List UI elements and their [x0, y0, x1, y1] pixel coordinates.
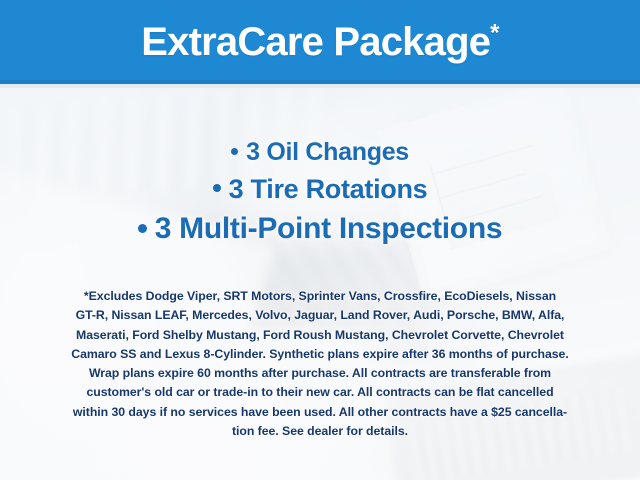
header-banner: ExtraCare Package*: [0, 0, 640, 88]
disclaimer-line: within 30 days if no services have been …: [30, 403, 610, 422]
benefit-item-tire-rotations: 3 Tire Rotations: [0, 174, 640, 206]
disclaimer-line: customer's old car or trade-in to their …: [30, 383, 610, 402]
disclaimer-line: *Excludes Dodge Viper, SRT Motors, Sprin…: [30, 287, 610, 306]
benefit-label: 3 Oil Changes: [246, 138, 409, 166]
bullet-dot-icon: [231, 148, 238, 155]
benefit-label: 3 Tire Rotations: [229, 174, 428, 204]
page-title-asterisk: *: [490, 20, 499, 47]
benefit-item-oil-changes: 3 Oil Changes: [0, 138, 640, 168]
bullet-dot-icon: [138, 224, 147, 233]
header-bottom-rule: [0, 84, 640, 88]
page-title-text: ExtraCare Package: [141, 20, 490, 64]
page-title: ExtraCare Package*: [141, 22, 498, 66]
benefit-item-multi-point-inspections: 3 Multi-Point Inspections: [0, 211, 640, 246]
disclaimer-line: Camaro SS and Lexus 8-Cylinder. Syntheti…: [30, 345, 610, 364]
extracare-package-ad: ExtraCare Package* 3 Oil Changes 3 Tire …: [0, 0, 640, 480]
disclaimer-line: tion fee. See dealer for details.: [30, 422, 610, 441]
disclaimer-line: Maserati, Ford Shelby Mustang, Ford Rous…: [30, 326, 610, 345]
disclaimer-line: Wrap plans expire 60 months after purcha…: [30, 364, 610, 383]
benefit-label: 3 Multi-Point Inspections: [155, 212, 503, 245]
disclaimer-text: *Excludes Dodge Viper, SRT Motors, Sprin…: [30, 287, 610, 441]
bullet-dot-icon: [213, 184, 221, 192]
disclaimer-line: GT-R, Nissan LEAF, Mercedes, Volvo, Jagu…: [30, 306, 610, 325]
benefits-list: 3 Oil Changes 3 Tire Rotations 3 Multi-P…: [0, 138, 640, 247]
